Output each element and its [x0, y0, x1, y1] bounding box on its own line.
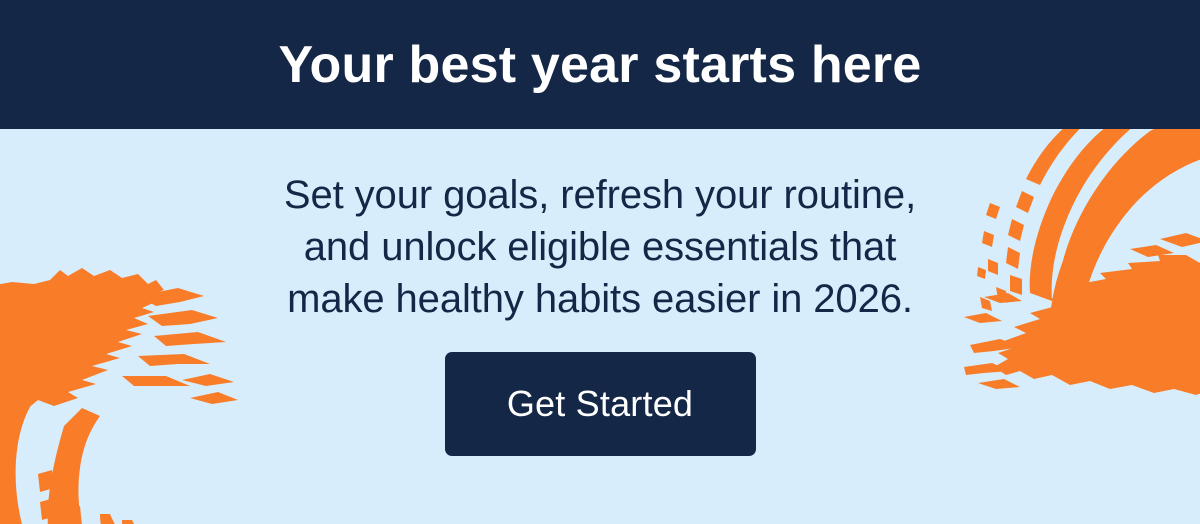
subhead-line-1: Set your goals, refresh your routine, [240, 169, 960, 221]
subhead-line-3: make healthy habits easier in 2026. [240, 273, 960, 325]
banner-body: Set your goals, refresh your routine, an… [0, 129, 1200, 524]
subhead-text: Set your goals, refresh your routine, an… [240, 129, 960, 325]
banner-content: Set your goals, refresh your routine, an… [0, 129, 1200, 524]
promo-banner: Your best year starts here [0, 0, 1200, 524]
banner-header: Your best year starts here [0, 0, 1200, 129]
page-title: Your best year starts here [279, 39, 922, 91]
get-started-button[interactable]: Get Started [445, 352, 756, 456]
subhead-line-2: and unlock eligible essentials that [240, 221, 960, 273]
cta-container: Get Started [445, 352, 756, 456]
